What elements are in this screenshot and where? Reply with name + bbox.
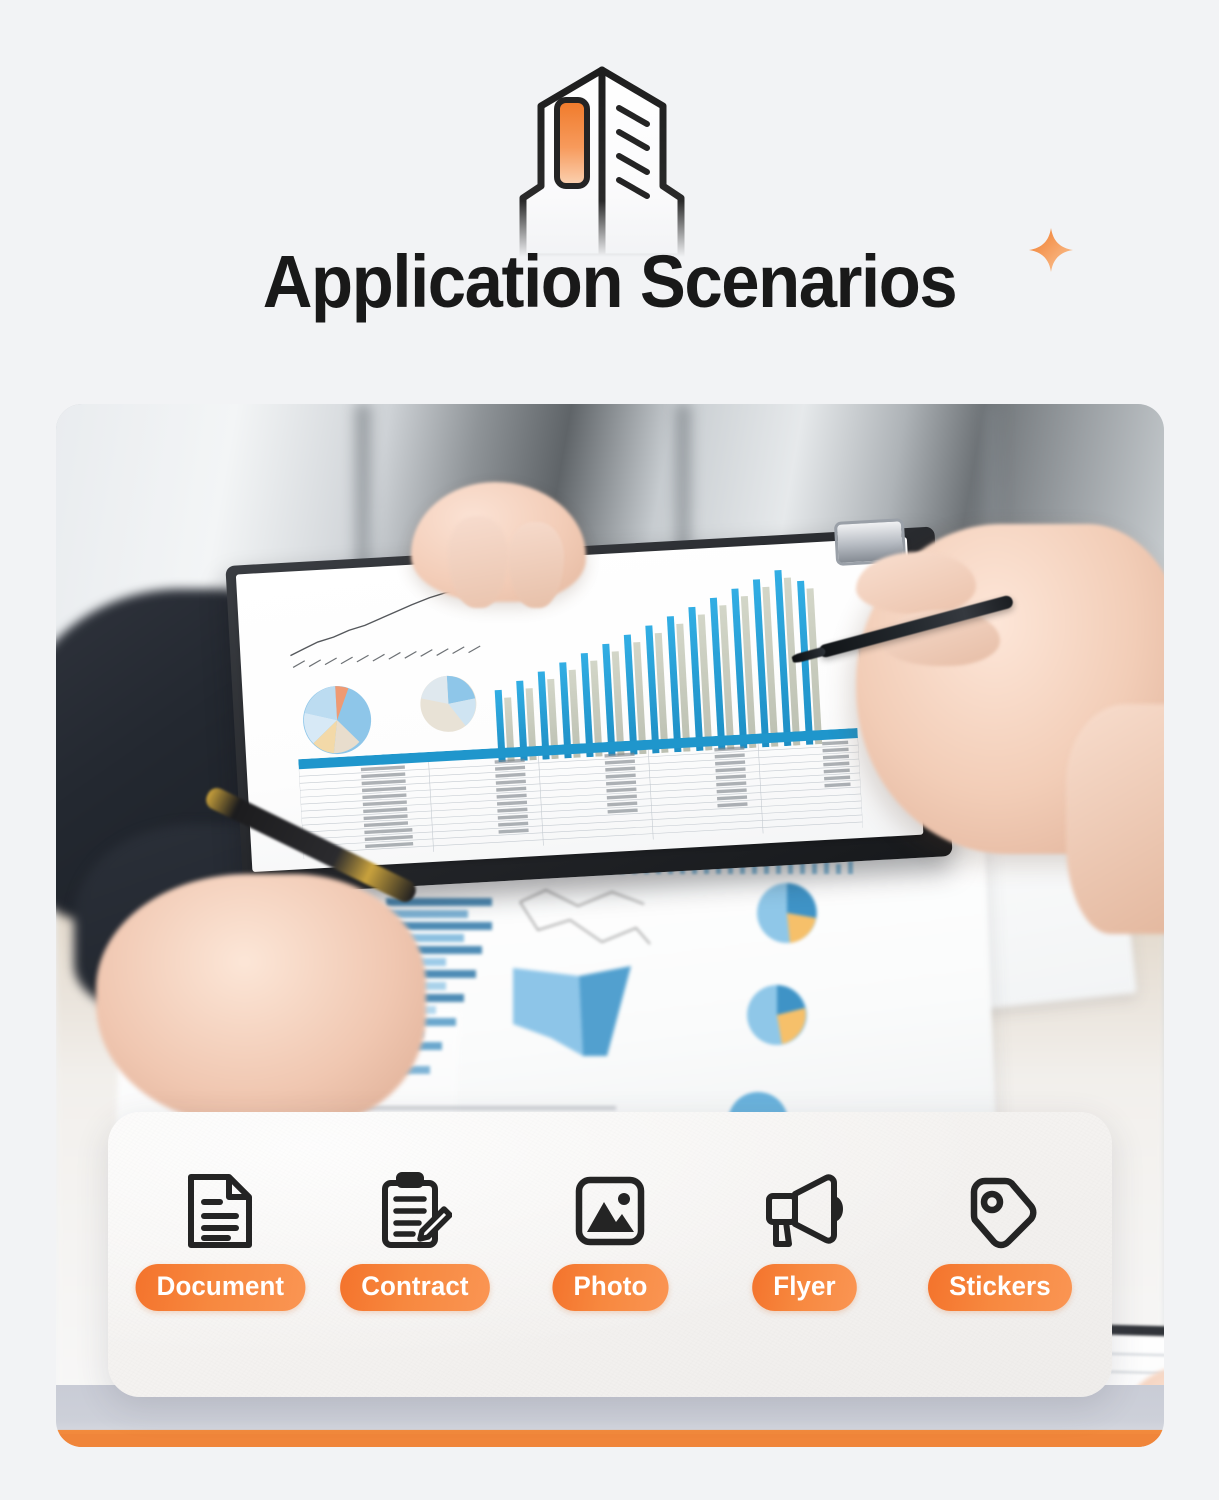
- mini-pie-chart-1: [756, 882, 818, 944]
- report-paper: [236, 537, 924, 872]
- document-icon: [185, 1172, 255, 1250]
- finger: [508, 522, 564, 608]
- finger: [448, 516, 508, 608]
- image-icon: [573, 1172, 647, 1250]
- category-item-photo[interactable]: Photo: [513, 1172, 708, 1311]
- clipboard-pen-icon: [378, 1172, 452, 1250]
- application-scenarios-card: Document Contract: [108, 1112, 1112, 1397]
- category-item-flyer[interactable]: Flyer: [708, 1172, 903, 1311]
- mini-line-chart: [516, 884, 656, 959]
- category-item-contract[interactable]: Contract: [318, 1172, 513, 1311]
- category-badge-flyer[interactable]: Flyer: [753, 1264, 858, 1311]
- category-list: Document Contract: [108, 1172, 1112, 1311]
- page-title: Application Scenarios: [43, 236, 1177, 328]
- finger: [856, 552, 976, 614]
- sparkle-icon: [1028, 227, 1074, 273]
- megaphone-icon: [764, 1172, 846, 1250]
- report-pie-chart-2: [418, 673, 479, 734]
- category-badge-photo[interactable]: Photo: [552, 1264, 668, 1311]
- page-header: Application Scenarios: [0, 0, 1219, 390]
- wrist: [1066, 704, 1164, 934]
- category-badge-contract[interactable]: Contract: [340, 1264, 490, 1311]
- category-item-document[interactable]: Document: [123, 1172, 318, 1311]
- clipboard-main: [225, 526, 952, 895]
- category-badge-document[interactable]: Document: [135, 1264, 305, 1311]
- hand-bottom-left: [96, 874, 426, 1124]
- report-data-table: [298, 728, 863, 859]
- mini-area-chart: [511, 964, 641, 1059]
- building-tower-icon: [495, 62, 710, 257]
- mini-pie-chart-2: [746, 984, 808, 1046]
- report-pie-chart-1: [300, 683, 374, 757]
- category-item-stickers[interactable]: Stickers: [903, 1172, 1098, 1311]
- price-tag-icon: [961, 1172, 1039, 1250]
- category-badge-stickers[interactable]: Stickers: [928, 1264, 1072, 1311]
